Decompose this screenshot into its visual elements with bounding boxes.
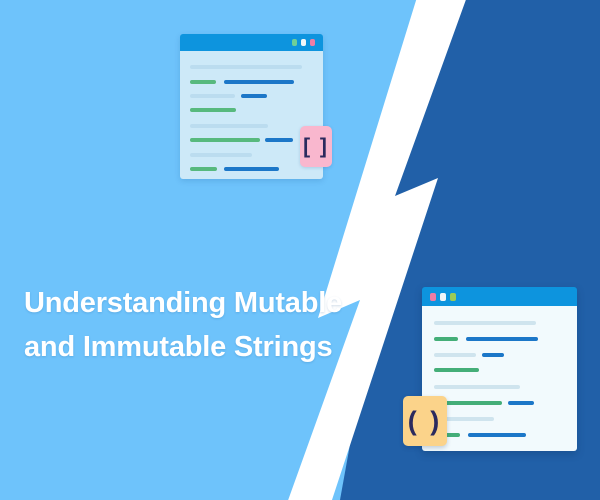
immutable-paren-badge[interactable]: ( ) — [403, 396, 447, 446]
code-line — [508, 401, 534, 405]
window-dot-pink[interactable] — [310, 39, 315, 46]
page-title-line-1: Understanding Mutable — [24, 281, 354, 325]
code-line — [434, 337, 458, 341]
code-line — [224, 167, 279, 171]
code-line — [241, 94, 267, 98]
code-line — [190, 80, 216, 84]
code-line — [190, 153, 252, 157]
window-titlebar — [422, 287, 577, 306]
window-dot-white[interactable] — [301, 39, 306, 46]
window-dot-green[interactable] — [292, 39, 297, 46]
window-titlebar — [180, 34, 323, 51]
code-line — [190, 167, 217, 171]
code-line — [434, 385, 520, 389]
code-line — [466, 337, 538, 341]
code-line — [434, 368, 479, 372]
code-line — [190, 65, 302, 69]
page-title: Understanding Mutable and Immutable Stri… — [24, 281, 354, 369]
mutable-bracket-badge[interactable]: [ ] — [300, 126, 332, 167]
code-line — [190, 108, 236, 112]
code-line — [434, 353, 476, 357]
poster-canvas: [ ] ( ) Understanding Mutable — [0, 0, 600, 500]
code-line — [434, 321, 536, 325]
bracket-badge-label: [ ] — [303, 135, 329, 159]
code-line — [265, 138, 293, 142]
code-line — [190, 94, 235, 98]
code-line — [224, 80, 294, 84]
code-line — [190, 138, 260, 142]
code-line — [482, 353, 504, 357]
window-dot-green[interactable] — [450, 293, 456, 301]
code-line — [468, 433, 526, 437]
page-title-line-2: and Immutable Strings — [24, 325, 354, 369]
window-dot-white[interactable] — [440, 293, 446, 301]
window-dot-pink[interactable] — [430, 293, 436, 301]
paren-badge-label: ( ) — [408, 406, 442, 437]
code-line — [190, 124, 268, 128]
